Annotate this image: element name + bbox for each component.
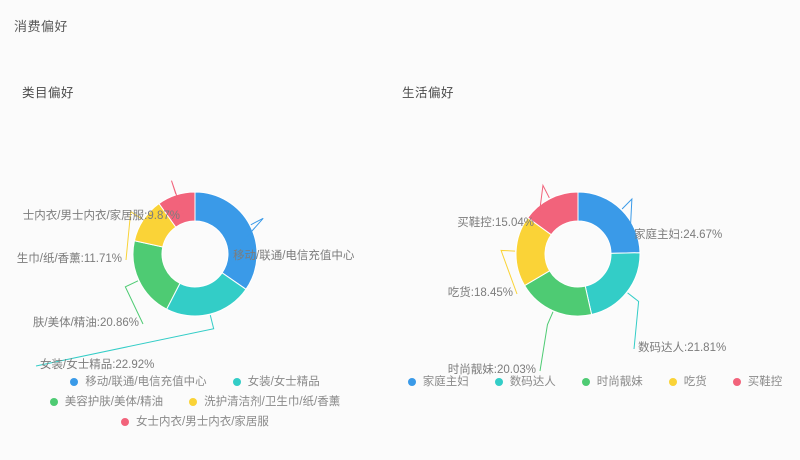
legend-color-swatch: [121, 418, 129, 426]
legend-item[interactable]: 移动/联通/电信充值中心: [70, 374, 206, 390]
legend-item[interactable]: 美容护肤/美体/精油: [50, 394, 163, 410]
legend-color-swatch: [582, 378, 590, 386]
slice-label: 士内衣/男士内衣/家居服:9.87%: [23, 211, 180, 223]
legend-color-swatch: [669, 378, 677, 386]
legend-color-swatch: [50, 398, 58, 406]
legend-category: 移动/联通/电信充值中心 女装/女士精品 美容护肤/美体/精油 洗护清洁剂/卫生…: [0, 374, 390, 430]
legend-color-swatch: [233, 378, 241, 386]
legend-color-swatch: [408, 378, 416, 386]
slice-label: 家庭主妇:24.67%: [634, 230, 722, 242]
slice-label: 生巾/纸/香薰:11.71%: [17, 254, 122, 266]
legend-item[interactable]: 数码达人: [495, 374, 556, 390]
leader-line: [540, 312, 553, 371]
legend-color-swatch: [70, 378, 78, 386]
legend-color-swatch: [733, 378, 741, 386]
donut-slice[interactable]: [585, 253, 640, 315]
legend-item[interactable]: 女装/女士精品: [233, 374, 320, 390]
legend-label: 女士内衣/男士内衣/家居服: [136, 414, 269, 430]
legend-item[interactable]: 时尚靓妹: [582, 374, 643, 390]
legend-item[interactable]: 女士内衣/男士内衣/家居服: [121, 414, 269, 430]
leader-line: [628, 293, 639, 349]
legend-label: 洗护清洁剂/卫生巾/纸/香薰: [204, 394, 340, 410]
donut-slices-life: [516, 192, 640, 316]
slice-label: 移动/联通/电信充值中心: [233, 251, 354, 263]
legend-label: 移动/联通/电信充值中心: [85, 374, 206, 390]
legend-label: 吃货: [684, 374, 707, 390]
legend-label: 美容护肤/美体/精油: [65, 394, 163, 410]
legend-item[interactable]: 洗护清洁剂/卫生巾/纸/香薰: [189, 394, 340, 410]
page-root: 消费偏好 类目偏好 移动/联通/电信充值中心女装/女士精品:22.92%肤/美体…: [0, 0, 800, 460]
slice-label: 数码达人:21.81%: [638, 343, 726, 355]
legend-color-swatch: [189, 398, 197, 406]
legend-life: 家庭主妇 数码达人 时尚靓妹 吃货 买鞋控: [390, 374, 800, 390]
panel-life-preference: 生活偏好 家庭主妇:24.67%数码达人:21.81%时尚靓妹:20.03%吃货…: [390, 44, 800, 460]
legend-item[interactable]: 买鞋控: [733, 374, 783, 390]
legend-label: 家庭主妇: [423, 374, 469, 390]
donut-slice[interactable]: [195, 192, 257, 289]
legend-label: 女装/女士精品: [248, 374, 320, 390]
legend-item[interactable]: 家庭主妇: [408, 374, 469, 390]
legend-label: 时尚靓妹: [597, 374, 643, 390]
slice-label: 买鞋控:15.04%: [457, 218, 534, 230]
donut-svg-life: [390, 44, 800, 374]
legend-label: 数码达人: [510, 374, 556, 390]
panel-category-preference: 类目偏好 移动/联通/电信充值中心女装/女士精品:22.92%肤/美体/精油:2…: [0, 44, 390, 460]
slice-label: 肤/美体/精油:20.86%: [33, 318, 139, 330]
page-title: 消费偏好: [14, 16, 68, 35]
slice-label: 女装/女士精品:22.92%: [40, 360, 154, 372]
slice-label: 吃货:18.45%: [448, 288, 513, 300]
legend-item[interactable]: 吃货: [669, 374, 707, 390]
legend-label: 买鞋控: [748, 374, 783, 390]
donut-chart-life: 家庭主妇:24.67%数码达人:21.81%时尚靓妹:20.03%吃货:18.4…: [390, 44, 800, 460]
legend-color-swatch: [495, 378, 503, 386]
